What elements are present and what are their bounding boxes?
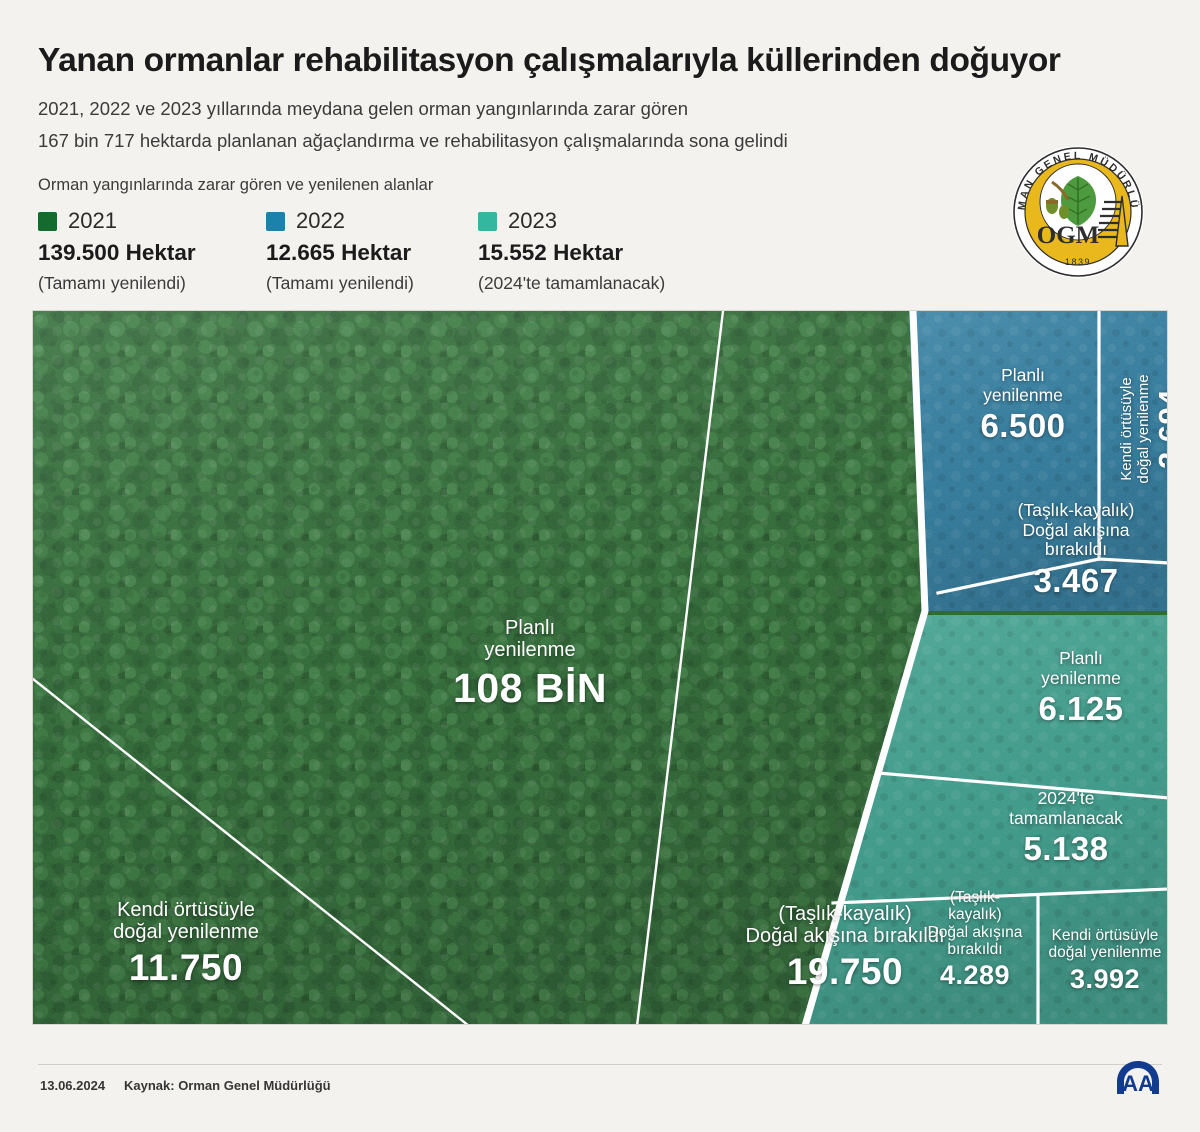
legend-note-2021: (Tamamı yenilendi) — [38, 273, 288, 294]
footer-source: Kaynak: Orman Genel Müdürlüğü — [124, 1078, 331, 1093]
label-line-1: (Taşlık- — [911, 889, 1039, 906]
legend-note-2023: (2024'te tamamlanacak) — [478, 273, 728, 294]
subtitle-line-1: 2021, 2022 ve 2023 yıllarında meydana ge… — [38, 98, 688, 120]
label-value: 6.125 — [993, 691, 1168, 728]
label-line-1: Planlı — [933, 366, 1113, 386]
legend-item-2023: 2023 15.552 Hektar (2024'te tamamlanacak… — [478, 208, 728, 294]
label-2022-taslik-kayalik: (Taşlık-kayalık) Doğal akışına bırakıldı… — [983, 501, 1168, 600]
legend-swatch-2021 — [38, 212, 57, 231]
subtitle-line-2: 167 bin 717 hektarda planlanan ağaçlandı… — [38, 130, 788, 152]
ogm-year: 1839 — [1065, 257, 1091, 267]
label-line-2: doğal yenilenme — [1136, 329, 1153, 529]
label-line-2: kayalık) — [911, 906, 1039, 923]
label-2022-planli-yenilenme: Planlı yenilenme 6.500 — [933, 366, 1113, 445]
label-line-3: Doğal akışına — [911, 924, 1039, 941]
legend-swatch-2022 — [266, 212, 285, 231]
legend-year-2021: 2021 — [68, 210, 117, 232]
legend-value-2021: 139.500 Hektar — [38, 240, 288, 266]
label-value: 3.467 — [983, 563, 1168, 600]
label-line-1: 2024'te — [971, 789, 1161, 809]
label-2022-kendi-ortusuyle: Kendi örtüsüyle doğal yenilenme 2.694 — [1119, 329, 1159, 529]
legend-value-2023: 15.552 Hektar — [478, 240, 728, 266]
label-2023-kendi-ortusuyle: Kendi örtüsüyle doğal yenilenme 3.992 — [1041, 927, 1168, 994]
legend-item-2021: 2021 139.500 Hektar (Tamamı yenilendi) — [38, 208, 288, 294]
label-line-1: Kendi örtüsüyle — [41, 899, 331, 921]
label-line-1: Planlı — [385, 617, 675, 639]
legend: 2021 139.500 Hektar (Tamamı yenilendi) 2… — [38, 208, 798, 298]
legend-year-2022: 2022 — [296, 210, 345, 232]
label-value: 4.289 — [911, 960, 1039, 990]
label-line-1: Kendi örtüsüyle — [1041, 927, 1168, 944]
label-value: 2.694 — [1153, 329, 1168, 529]
label-value: 11.750 — [41, 947, 331, 988]
label-line-2: doğal yenilenme — [41, 921, 331, 943]
label-2023-taslik-kayalik: (Taşlık- kayalık) Doğal akışına bırakıld… — [911, 889, 1039, 991]
label-value: 6.500 — [933, 408, 1113, 445]
ogm-acronym: OGM — [1037, 222, 1100, 249]
label-line-2: tamamlanacak — [971, 809, 1161, 829]
label-line-4: bırakıldı — [911, 941, 1039, 958]
header: Yanan ormanlar rehabilitasyon çalışmalar… — [0, 0, 1200, 310]
label-line-3: bırakıldı — [983, 540, 1168, 560]
label-line-1: Planlı — [993, 649, 1168, 669]
page-title: Yanan ormanlar rehabilitasyon çalışmalar… — [38, 42, 1168, 80]
label-line-1: Kendi örtüsüyle — [1119, 329, 1136, 529]
ogm-logo: OGM 1839 ORMAN GENEL MÜDÜRLÜĞÜ — [1008, 138, 1148, 286]
treemap-chart: Planlı yenilenme 108 BİN Kendi örtüsüyle… — [32, 310, 1168, 1025]
aa-logo: AA — [1113, 1058, 1163, 1098]
label-value: 3.992 — [1041, 964, 1168, 994]
label-value: 5.138 — [971, 831, 1161, 868]
legend-caption: Orman yangınlarında zarar gören ve yenil… — [38, 176, 433, 195]
label-value: 108 BİN — [385, 666, 675, 712]
label-2023-2024te-tamamlanacak: 2024'te tamamlanacak 5.138 — [971, 789, 1161, 868]
label-2023-planli-yenilenme: Planlı yenilenme 6.125 — [993, 649, 1168, 728]
legend-swatch-2023 — [478, 212, 497, 231]
footer-date: 13.06.2024 — [40, 1078, 105, 1093]
svg-text:AA: AA — [1122, 1071, 1154, 1096]
label-line-2: yenilenme — [385, 639, 675, 661]
label-line-2: yenilenme — [993, 669, 1168, 689]
label-2021-planli-yenilenme: Planlı yenilenme 108 BİN — [385, 617, 675, 712]
footer-divider — [38, 1064, 1162, 1065]
label-line-2: doğal yenilenme — [1041, 944, 1168, 961]
label-line-2: Doğal akışına — [983, 521, 1168, 541]
label-line-1: (Taşlık-kayalık) — [983, 501, 1168, 521]
footer: 13.06.2024 Kaynak: Orman Genel Müdürlüğü — [0, 1052, 1200, 1132]
legend-year-2023: 2023 — [508, 210, 557, 232]
infographic-page: Yanan ormanlar rehabilitasyon çalışmalar… — [0, 0, 1200, 1132]
label-line-2: yenilenme — [933, 386, 1113, 406]
label-2021-kendi-ortusuyle: Kendi örtüsüyle doğal yenilenme 11.750 — [41, 899, 331, 988]
